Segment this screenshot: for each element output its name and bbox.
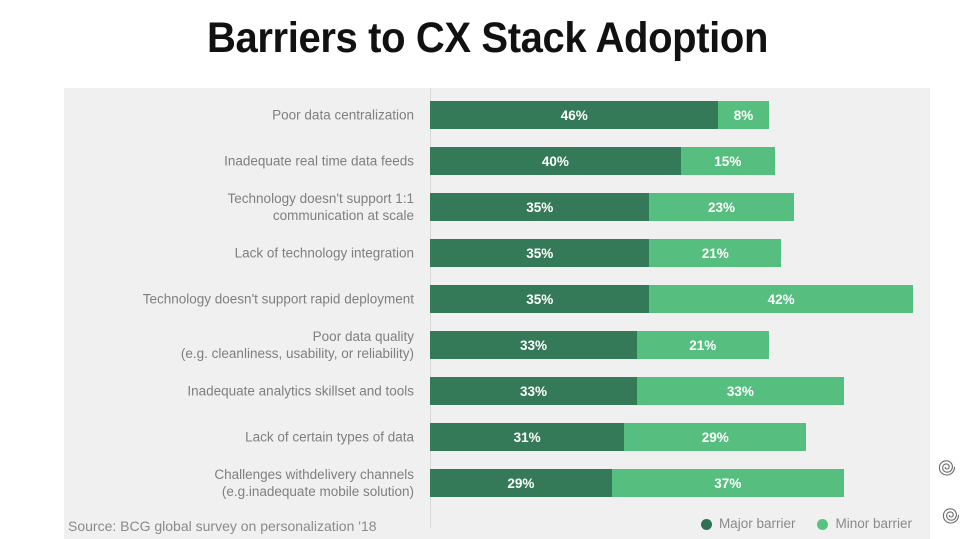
bar-value-label-minor: 33% xyxy=(727,384,754,399)
bar-category-label: Inadequate real time data feeds xyxy=(64,153,414,170)
legend-label-major: Major barrier xyxy=(719,515,796,533)
legend-item-minor[interactable]: Minor barrier xyxy=(817,515,912,533)
bar-value-label-major: 29% xyxy=(507,476,534,491)
bar-category-label: Technology doesn't support rapid deploym… xyxy=(64,291,414,308)
bar-category-label: Lack of technology integration xyxy=(64,245,414,262)
stacked-bar: 29%37% xyxy=(430,469,844,497)
stacked-bar: 33%21% xyxy=(430,331,769,359)
stacked-bar: 35%23% xyxy=(430,193,794,221)
source-note: Source: BCG global survey on personaliza… xyxy=(68,517,377,535)
bar-row: Inadequate analytics skillset and tools3… xyxy=(64,368,930,414)
chart-panel: Poor data centralization46%8%Inadequate … xyxy=(64,88,930,539)
bar-segment-minor[interactable]: 37% xyxy=(612,469,844,497)
bar-value-label-major: 35% xyxy=(526,200,553,215)
stacked-bar: 40%15% xyxy=(430,147,775,175)
bar-value-label-minor: 8% xyxy=(734,108,754,123)
legend-swatch-major-icon xyxy=(701,519,712,530)
bar-value-label-major: 46% xyxy=(561,108,588,123)
bar-row: Inadequate real time data feeds40%15% xyxy=(64,138,930,184)
bar-row: Technology doesn't support 1:1 communica… xyxy=(64,184,930,230)
bar-segment-major[interactable]: 33% xyxy=(430,331,637,359)
bar-value-label-major: 40% xyxy=(542,154,569,169)
bar-segment-minor[interactable]: 29% xyxy=(624,423,806,451)
bar-segment-minor[interactable]: 21% xyxy=(649,239,781,267)
bar-value-label-major: 35% xyxy=(526,246,553,261)
bar-segment-major[interactable]: 29% xyxy=(430,469,612,497)
bar-row: Challenges withdelivery channels (e.g.in… xyxy=(64,460,930,506)
chart-legend: Major barrier Minor barrier xyxy=(701,515,912,533)
bar-segment-major[interactable]: 33% xyxy=(430,377,637,405)
bar-segment-minor[interactable]: 8% xyxy=(718,101,768,129)
bar-segment-major[interactable]: 35% xyxy=(430,285,649,313)
spiral-icon xyxy=(930,450,964,484)
bar-row: Poor data quality (e.g. cleanliness, usa… xyxy=(64,322,930,368)
bar-value-label-minor: 29% xyxy=(702,430,729,445)
bar-category-label: Inadequate analytics skillset and tools xyxy=(64,383,414,400)
stacked-bar: 35%42% xyxy=(430,285,913,313)
bar-segment-minor[interactable]: 42% xyxy=(649,285,912,313)
bar-category-label: Lack of certain types of data xyxy=(64,429,414,446)
bar-row: Lack of technology integration35%21% xyxy=(64,230,930,276)
bar-segment-minor[interactable]: 15% xyxy=(681,147,775,175)
stacked-bar: 35%21% xyxy=(430,239,781,267)
page-title: Barriers to CX Stack Adoption xyxy=(34,10,941,66)
bar-category-label: Poor data quality (e.g. cleanliness, usa… xyxy=(64,328,414,362)
bar-row: Technology doesn't support rapid deploym… xyxy=(64,276,930,322)
bar-value-label-major: 33% xyxy=(520,338,547,353)
bar-category-label: Poor data centralization xyxy=(64,107,414,124)
bar-segment-major[interactable]: 46% xyxy=(430,101,718,129)
legend-item-major[interactable]: Major barrier xyxy=(701,515,796,533)
spiral-icon xyxy=(934,498,968,532)
stacked-bar: 33%33% xyxy=(430,377,844,405)
bar-value-label-major: 33% xyxy=(520,384,547,399)
bar-value-label-minor: 42% xyxy=(768,292,795,307)
bar-segment-minor[interactable]: 33% xyxy=(637,377,844,405)
bar-segment-minor[interactable]: 23% xyxy=(649,193,793,221)
bar-value-label-minor: 23% xyxy=(708,200,735,215)
bar-value-label-minor: 21% xyxy=(689,338,716,353)
bar-value-label-major: 31% xyxy=(514,430,541,445)
bar-row: Lack of certain types of data31%29% xyxy=(64,414,930,460)
bar-row: Poor data centralization46%8% xyxy=(64,92,930,138)
stacked-bar: 46%8% xyxy=(430,101,769,129)
bar-category-label: Challenges withdelivery channels (e.g.in… xyxy=(64,466,414,500)
bar-segment-minor[interactable]: 21% xyxy=(637,331,769,359)
bar-segment-major[interactable]: 31% xyxy=(430,423,624,451)
legend-label-minor: Minor barrier xyxy=(835,515,912,533)
bar-value-label-minor: 15% xyxy=(714,154,741,169)
bar-segment-major[interactable]: 40% xyxy=(430,147,681,175)
bar-category-label: Technology doesn't support 1:1 communica… xyxy=(64,190,414,224)
bar-segment-major[interactable]: 35% xyxy=(430,239,649,267)
bar-value-label-minor: 21% xyxy=(702,246,729,261)
bar-segment-major[interactable]: 35% xyxy=(430,193,649,221)
bar-value-label-minor: 37% xyxy=(714,476,741,491)
legend-swatch-minor-icon xyxy=(817,519,828,530)
stacked-bar: 31%29% xyxy=(430,423,806,451)
bar-value-label-major: 35% xyxy=(526,292,553,307)
